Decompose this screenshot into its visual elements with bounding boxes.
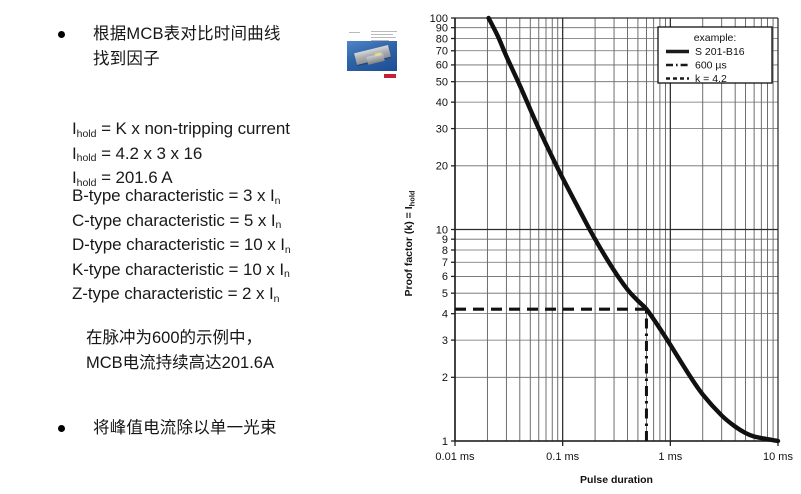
- formula-line: Ihold = K x non-tripping current: [72, 118, 290, 143]
- characteristic-line: C-type characteristic = 5 x In: [72, 210, 291, 235]
- chart-ytick-label: 5: [442, 288, 448, 300]
- characteristic-line: K-type characteristic = 10 x In: [72, 259, 291, 284]
- chart-ytick-label: 10: [436, 224, 448, 236]
- chart-ytick-label: 20: [436, 161, 448, 173]
- chart-ytick-label: 6: [442, 271, 448, 283]
- datasheet-header: [347, 30, 397, 41]
- bullet-text: 根据MCB表对比时间曲线 找到因子: [93, 22, 281, 72]
- chart-ytick-label: 30: [436, 123, 448, 135]
- chart-xtick-label: 10 ms: [763, 451, 793, 463]
- chart-xtick-label: 1 ms: [658, 451, 682, 463]
- chart-legend: example:S 201-B16600 µsk = 4.2: [658, 27, 772, 85]
- legend-title: example:: [694, 32, 737, 44]
- chart-yaxis-title: Proof factor (k) = Ihold: [403, 190, 417, 296]
- bullet-item-divide-peak: 将峰值电流除以单一光束: [58, 416, 277, 441]
- characteristic-line: B-type characteristic = 3 x In: [72, 185, 291, 210]
- formula-line: Ihold = 4.2 x 3 x 16: [72, 143, 290, 168]
- chart-ytick-label: 2: [442, 372, 448, 384]
- slide-left-panel: 根据MCB表对比时间曲线 找到因子 Ihold = K x non-trippi…: [0, 0, 400, 494]
- brand-bar: [384, 74, 396, 78]
- chart-ytick-label: 8: [442, 245, 448, 257]
- chart-ytick-label: 1: [442, 436, 448, 448]
- formula-block: Ihold = K x non-tripping current Ihold =…: [72, 118, 290, 192]
- chart-ytick-label: 7: [442, 257, 448, 269]
- legend-entry-label: k = 4.2: [695, 73, 727, 85]
- chart-xtick-label: 0.1 ms: [546, 451, 580, 463]
- chart-xtick-labels: 0.01 ms0.1 ms1 ms10 ms: [435, 441, 793, 463]
- product-image: [344, 28, 400, 80]
- proof-factor-chart: 123456789102030405060708090100 0.01 ms0.…: [396, 0, 801, 494]
- chart-ytick-label: 50: [436, 76, 448, 88]
- chart-ytick-label: 70: [436, 46, 448, 58]
- chart-ytick-label: 40: [436, 97, 448, 109]
- legend-entry-label: S 201-B16: [695, 46, 745, 58]
- chart-annotations: [455, 309, 646, 441]
- bullet-item-compare-curve: 根据MCB表对比时间曲线 找到因子: [58, 22, 281, 72]
- product-photo: [347, 41, 397, 71]
- chart-ytick-label: 100: [430, 13, 448, 25]
- bullet-text: 将峰值电流除以单一光束: [93, 416, 277, 441]
- bullet-dot-icon: [58, 425, 65, 432]
- chart-xtick-label: 0.01 ms: [435, 451, 475, 463]
- chart-ytick-label: 80: [436, 33, 448, 45]
- bullet-dot-icon: [58, 31, 65, 38]
- chart-ytick-labels: 123456789102030405060708090100: [430, 13, 455, 448]
- example-note: 在脉冲为600的示例中， MCB电流持续高达201.6A: [86, 326, 274, 376]
- characteristic-line: D-type characteristic = 10 x In: [72, 234, 291, 259]
- chart-canvas: 123456789102030405060708090100 0.01 ms0.…: [396, 0, 801, 494]
- characteristic-line: Z-type characteristic = 2 x In: [72, 283, 291, 308]
- chart-ytick-label: 60: [436, 60, 448, 72]
- characteristics-block: B-type characteristic = 3 x In C-type ch…: [72, 185, 291, 308]
- chart-ytick-label: 3: [442, 335, 448, 347]
- chart-ytick-label: 4: [442, 308, 448, 320]
- chart-xaxis-title: Pulse duration: [580, 474, 653, 486]
- legend-entry-label: 600 µs: [695, 60, 727, 72]
